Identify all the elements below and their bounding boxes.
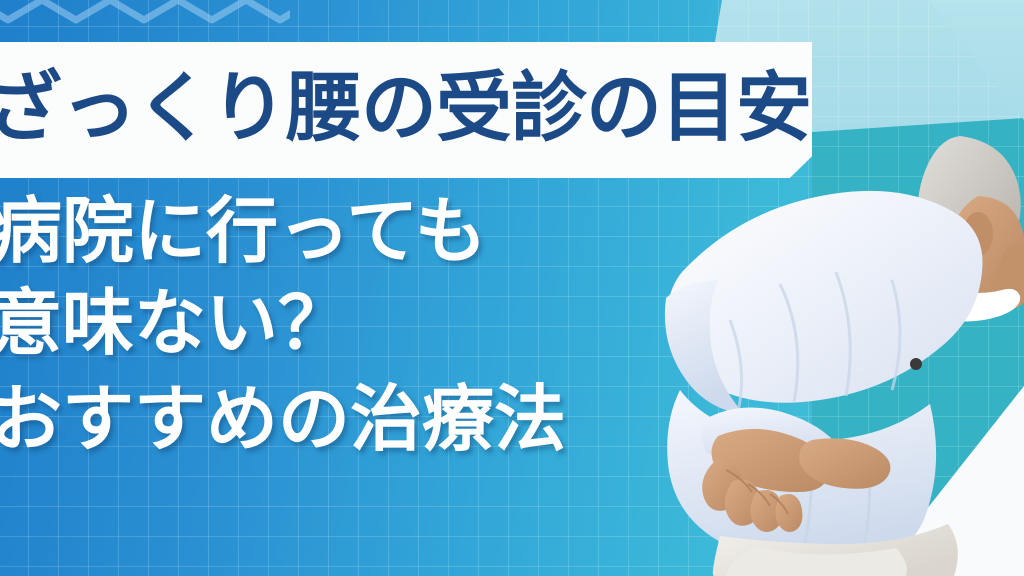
- banner-canvas: ざっくり腰の受診の目安 病院に行っても 意味ない？ おすすめの治療法: [0, 0, 1024, 576]
- subtitle-line-3: おすすめの治療法: [0, 376, 750, 462]
- subtitle-line-1: 病院に行っても: [0, 188, 750, 274]
- hexagon-pattern-icon: [0, 0, 290, 46]
- subtitle-block: 病院に行っても 意味ない？ おすすめの治療法: [0, 188, 750, 462]
- page-title: ざっくり腰の受診の目安: [0, 52, 816, 164]
- subtitle-line-2: 意味ない？: [0, 280, 750, 366]
